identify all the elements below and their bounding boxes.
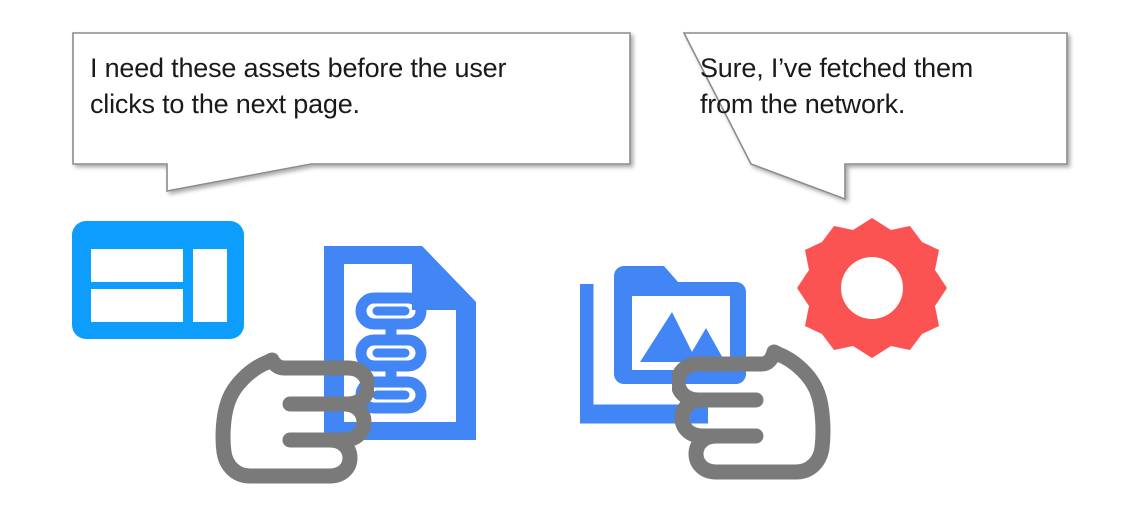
page-layout-icon bbox=[72, 221, 244, 339]
icon-layer bbox=[0, 0, 1130, 528]
grabbing-hand-icon bbox=[212, 352, 374, 486]
illustration-canvas: I need these assets before the user clic… bbox=[0, 0, 1130, 528]
delivering-hand-icon bbox=[672, 342, 834, 484]
